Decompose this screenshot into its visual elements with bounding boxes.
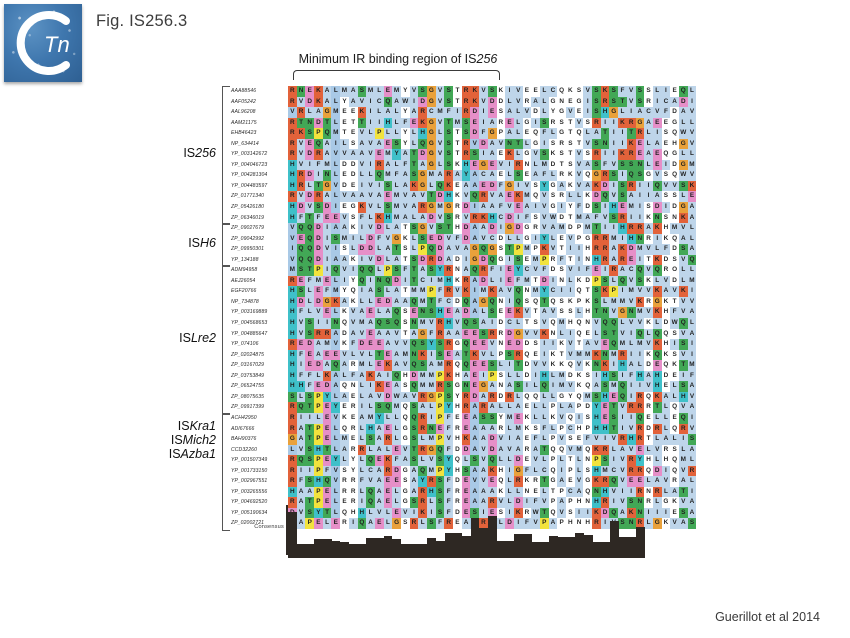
residue-cell: L [644, 329, 653, 340]
residue-cell: I [479, 118, 488, 129]
residue-cell: I [505, 160, 514, 171]
residue-cell: N [601, 307, 610, 318]
residue-cell: H [288, 329, 297, 340]
residue-cell: C [418, 276, 427, 287]
residue-cell: K [323, 371, 332, 382]
residue-cell: E [670, 86, 679, 97]
residue-cell: R [514, 160, 523, 171]
residue-cell: A [479, 318, 488, 329]
residue-cell: M [410, 286, 419, 297]
residue-cell: Q [575, 318, 584, 329]
residue-cell: A [410, 487, 419, 498]
residue-cell: L [392, 160, 401, 171]
residue-cell: F [488, 265, 497, 276]
residue-cell: K [453, 160, 462, 171]
residue-cell: R [444, 170, 453, 181]
residue-cell: M [436, 107, 445, 118]
residue-cell: I [688, 487, 697, 498]
residue-cell: L [653, 413, 662, 424]
residue-cell: K [592, 181, 601, 192]
residue-cell: R [601, 97, 610, 108]
residue-cell: A [331, 223, 340, 234]
residue-cell: G [444, 202, 453, 213]
residue-cell: M [479, 286, 488, 297]
residue-cell: D [375, 255, 384, 266]
residue-cell: K [497, 86, 506, 97]
residue-cell: H [636, 371, 645, 382]
residue-cell: Q [618, 392, 627, 403]
accession-label: YP_001507349 [231, 455, 287, 466]
residue-cell: F [531, 434, 540, 445]
residue-cell: D [314, 234, 323, 245]
residue-cell: L [505, 371, 514, 382]
residue-cell: V [592, 318, 601, 329]
alignment-row: HDLDGKAKLLEDAAQMTFCDQAGQNIQSQTQSKPKSLMMV… [288, 297, 696, 308]
residue-cell: S [358, 86, 367, 97]
accession-label: ZP_09027679 [231, 223, 287, 234]
residue-cell: M [557, 381, 566, 392]
accession-label: YP_003169889 [231, 307, 287, 318]
residue-cell: K [340, 339, 349, 350]
residue-cell: V [653, 170, 662, 181]
residue-cell: G [679, 160, 688, 171]
residue-cell: R [288, 191, 297, 202]
residue-cell: I [549, 381, 558, 392]
residue-cell: E [662, 118, 671, 129]
residue-cell: Q [349, 286, 358, 297]
residue-cell: Y [549, 107, 558, 118]
residue-cell: V [575, 118, 584, 129]
residue-cell: A [462, 265, 471, 276]
residue-cell: L [523, 139, 532, 150]
residue-cell: F [297, 371, 306, 382]
residue-cell: C [497, 213, 506, 224]
residue-cell: D [566, 223, 575, 234]
residue-cell: R [349, 497, 358, 508]
residue-cell: S [601, 329, 610, 340]
residue-cell: A [662, 286, 671, 297]
residue-cell: D [497, 318, 506, 329]
residue-cell: G [427, 118, 436, 129]
group-label-name: 256 [195, 146, 216, 160]
residue-cell: Y [323, 392, 332, 403]
residue-cell: Q [670, 424, 679, 435]
residue-cell: O [670, 265, 679, 276]
residue-cell: S [410, 434, 419, 445]
consensus-bar [332, 541, 341, 558]
residue-cell: E [531, 350, 540, 361]
residue-cell: L [540, 86, 549, 97]
residue-cell: T [410, 265, 419, 276]
residue-cell: H [592, 424, 601, 435]
residue-cell: V [297, 191, 306, 202]
residue-cell: F [297, 307, 306, 318]
residue-cell: D [670, 107, 679, 118]
residue-cell: P [497, 350, 506, 361]
residue-cell: L [305, 307, 314, 318]
residue-cell: G [618, 307, 627, 318]
residue-cell: K [349, 223, 358, 234]
residue-cell: G [427, 149, 436, 160]
residue-cell: K [662, 297, 671, 308]
residue-cell: V [392, 339, 401, 350]
residue-cell: V [314, 307, 323, 318]
residue-cell: Q [618, 276, 627, 287]
residue-cell: N [557, 97, 566, 108]
residue-cell: H [436, 307, 445, 318]
residue-cell: L [331, 434, 340, 445]
residue-cell: S [566, 160, 575, 171]
residue-cell: D [662, 255, 671, 266]
residue-cell: R [601, 255, 610, 266]
residue-cell: V [662, 276, 671, 287]
residue-cell: R [636, 466, 645, 477]
residue-cell: V [575, 476, 584, 487]
residue-cell: L [436, 160, 445, 171]
residue-cell: E [366, 307, 375, 318]
residue-cell: E [662, 139, 671, 150]
residue-cell: S [497, 107, 506, 118]
consensus-bar [375, 538, 384, 558]
residue-cell: D [314, 118, 323, 129]
residue-cell: N [583, 455, 592, 466]
residue-cell: E [349, 392, 358, 403]
residue-cell: D [375, 223, 384, 234]
residue-cell: Q [297, 223, 306, 234]
residue-cell: A [557, 497, 566, 508]
residue-cell: G [392, 234, 401, 245]
residue-cell: I [375, 181, 384, 192]
consensus-bar [384, 536, 393, 558]
residue-cell: A [392, 360, 401, 371]
residue-cell: V [488, 191, 497, 202]
residue-cell: A [331, 381, 340, 392]
residue-cell: G [549, 476, 558, 487]
residue-cell: T [305, 265, 314, 276]
residue-cell: G [575, 97, 584, 108]
residue-cell: T [453, 128, 462, 139]
residue-cell: S [549, 191, 558, 202]
residue-cell: Q [305, 244, 314, 255]
residue-cell: V [531, 265, 540, 276]
residue-cell: H [601, 371, 610, 382]
residue-cell: I [470, 286, 479, 297]
residue-cell: S [497, 371, 506, 382]
residue-cell: L [488, 276, 497, 287]
residue-cell: A [323, 360, 332, 371]
residue-cell: I [305, 160, 314, 171]
residue-cell: E [392, 445, 401, 456]
residue-cell: M [557, 318, 566, 329]
residue-cell: T [583, 286, 592, 297]
residue-cell: S [436, 487, 445, 498]
residue-cell: D [314, 223, 323, 234]
residue-cell: R [462, 97, 471, 108]
residue-cell: D [340, 181, 349, 192]
residue-cell: V [523, 107, 532, 118]
residue-cell: H [384, 118, 393, 129]
residue-cell: Q [670, 455, 679, 466]
residue-cell: E [523, 170, 532, 181]
residue-cell: E [479, 181, 488, 192]
residue-cell: M [340, 86, 349, 97]
residue-cell: L [358, 487, 367, 498]
residue-cell: E [670, 371, 679, 382]
residue-cell: V [297, 149, 306, 160]
residue-cell: P [549, 434, 558, 445]
residue-cell: R [288, 402, 297, 413]
residue-cell: V [662, 476, 671, 487]
residue-cell: M [436, 276, 445, 287]
residue-cell: G [453, 339, 462, 350]
residue-cell: Q [531, 297, 540, 308]
residue-cell: K [366, 371, 375, 382]
residue-cell: A [366, 286, 375, 297]
residue-cell: K [523, 424, 532, 435]
residue-cell: A [479, 223, 488, 234]
residue-cell: V [418, 191, 427, 202]
residue-cell: I [575, 255, 584, 266]
residue-cell: A [331, 255, 340, 266]
residue-cell: K [653, 255, 662, 266]
residue-cell: K [488, 286, 497, 297]
residue-cell: A [392, 223, 401, 234]
residue-cell: M [436, 360, 445, 371]
residue-cell: S [479, 329, 488, 340]
residue-cell: D [523, 339, 532, 350]
panel-title-italic: 256 [477, 52, 498, 66]
residue-cell: Q [523, 350, 532, 361]
residue-cell: T [549, 487, 558, 498]
residue-cell: S [410, 255, 419, 266]
residue-cell: H [288, 487, 297, 498]
residue-cell: I [366, 118, 375, 129]
residue-cell: R [462, 392, 471, 403]
residue-cell: L [688, 149, 697, 160]
residue-cell: T [401, 223, 410, 234]
residue-cell: S [444, 97, 453, 108]
residue-cell: E [323, 276, 332, 287]
residue-cell: L [514, 234, 523, 245]
residue-cell: L [540, 107, 549, 118]
residue-cell: S [410, 455, 419, 466]
residue-cell: I [331, 139, 340, 150]
residue-cell: R [418, 424, 427, 435]
residue-cell: I [340, 276, 349, 287]
residue-cell: D [679, 97, 688, 108]
residue-cell: A [531, 97, 540, 108]
residue-cell: Q [653, 350, 662, 361]
residue-cell: Q [488, 297, 497, 308]
residue-cell: F [358, 213, 367, 224]
residue-cell: S [514, 170, 523, 181]
residue-cell: H [288, 318, 297, 329]
residue-cell: V [297, 445, 306, 456]
residue-cell: K [670, 360, 679, 371]
residue-cell: A [297, 424, 306, 435]
residue-cell: F [305, 381, 314, 392]
residue-cell: R [470, 213, 479, 224]
residue-cell: A [401, 392, 410, 403]
residue-cell: K [679, 213, 688, 224]
residue-cell: A [679, 476, 688, 487]
residue-cell: K [375, 381, 384, 392]
accession-label: ZP_09917399 [231, 402, 287, 413]
residue-cell: P [436, 413, 445, 424]
residue-cell: L [505, 455, 514, 466]
residue-cell: K [662, 234, 671, 245]
residue-cell: G [514, 466, 523, 477]
residue-cell: V [505, 286, 514, 297]
residue-cell: I [627, 487, 636, 498]
residue-cell: T [453, 139, 462, 150]
residue-cell: F [557, 255, 566, 266]
residue-cell: A [497, 191, 506, 202]
accession-label: YP_004281304 [231, 170, 287, 181]
sequence-alignment: RNEKALMASMLEMYVSGVSTRKVSKIVEELCQKSVSKSFV… [288, 86, 696, 529]
group-label: ISKra1 [178, 420, 216, 432]
residue-cell: F [305, 276, 314, 287]
residue-cell: E [462, 424, 471, 435]
residue-cell: R [453, 424, 462, 435]
residue-cell: V [497, 497, 506, 508]
residue-cell: Q [410, 360, 419, 371]
residue-cell: K [670, 497, 679, 508]
residue-cell: N [592, 360, 601, 371]
residue-cell: A [470, 402, 479, 413]
residue-cell: T [540, 476, 549, 487]
residue-cell: V [644, 244, 653, 255]
residue-cell: S [662, 128, 671, 139]
residue-cell: E [470, 160, 479, 171]
residue-cell: R [627, 181, 636, 192]
residue-cell: V [366, 149, 375, 160]
residue-cell: Q [479, 244, 488, 255]
residue-cell: I [627, 381, 636, 392]
residue-cell: V [566, 339, 575, 350]
residue-cell: I [331, 244, 340, 255]
residue-cell: A [305, 487, 314, 498]
residue-cell: S [444, 392, 453, 403]
residue-cell: A [549, 223, 558, 234]
residue-cell: A [358, 413, 367, 424]
residue-cell: Q [636, 413, 645, 424]
residue-cell: L [366, 170, 375, 181]
residue-cell: A [470, 181, 479, 192]
residue-cell: I [358, 181, 367, 192]
residue-cell: T [592, 223, 601, 234]
residue-cell: A [392, 255, 401, 266]
consensus-bar [514, 534, 523, 558]
residue-cell: D [592, 191, 601, 202]
residue-cell: Q [384, 97, 393, 108]
residue-cell: S [592, 107, 601, 118]
residue-cell: G [323, 297, 332, 308]
group-label-prefix: IS [171, 433, 183, 447]
alignment-row: VRLAGMEEKILALYARCMFIRDIESALVDLYGVEISHGLI… [288, 107, 696, 118]
residue-cell: M [384, 170, 393, 181]
residue-cell: K [497, 487, 506, 498]
residue-cell: L [505, 487, 514, 498]
residue-cell: R [444, 360, 453, 371]
residue-cell: Q [653, 181, 662, 192]
residue-cell: V [627, 297, 636, 308]
residue-cell: R [288, 118, 297, 129]
residue-cell: L [514, 128, 523, 139]
residue-cell: G [323, 107, 332, 118]
residue-cell: A [470, 297, 479, 308]
residue-cell: V [366, 255, 375, 266]
residue-cell: D [323, 202, 332, 213]
residue-cell: V [436, 213, 445, 224]
residue-cell: N [331, 318, 340, 329]
residue-cell: V [436, 149, 445, 160]
residue-cell: S [583, 118, 592, 129]
residue-cell: G [401, 497, 410, 508]
residue-cell: H [288, 371, 297, 382]
residue-cell: M [670, 223, 679, 234]
residue-cell: R [627, 118, 636, 129]
residue-cell: S [583, 466, 592, 477]
accession-label: AAM21175 [231, 118, 287, 129]
residue-cell: L [514, 371, 523, 382]
residue-cell: E [323, 424, 332, 435]
residue-cell: L [505, 476, 514, 487]
residue-cell: T [375, 350, 384, 361]
residue-cell: V [627, 86, 636, 97]
residue-cell: E [297, 339, 306, 350]
residue-cell: L [505, 424, 514, 435]
residue-cell: E [427, 234, 436, 245]
residue-cell: L [375, 265, 384, 276]
residue-cell: R [688, 466, 697, 477]
residue-cell: G [523, 234, 532, 245]
residue-cell: E [609, 392, 618, 403]
residue-cell: S [305, 392, 314, 403]
residue-cell: D [305, 97, 314, 108]
residue-cell: Q [583, 381, 592, 392]
residue-cell: K [644, 276, 653, 287]
residue-cell: H [662, 307, 671, 318]
residue-cell: M [557, 371, 566, 382]
residue-cell: Q [401, 402, 410, 413]
residue-cell: F [297, 350, 306, 361]
residue-cell: G [488, 128, 497, 139]
residue-cell: G [470, 255, 479, 266]
residue-cell: R [462, 276, 471, 287]
residue-cell: M [523, 276, 532, 287]
residue-cell: V [540, 497, 549, 508]
residue-cell: S [679, 244, 688, 255]
residue-cell: E [488, 476, 497, 487]
residue-cell: S [444, 381, 453, 392]
residue-cell: W [679, 170, 688, 181]
residue-cell: G [288, 434, 297, 445]
residue-cell: R [644, 497, 653, 508]
residue-cell: A [340, 360, 349, 371]
residue-cell: F [523, 466, 532, 477]
residue-cell: A [470, 487, 479, 498]
residue-cell: D [349, 160, 358, 171]
residue-cell: K [662, 518, 671, 529]
residue-cell: S [418, 339, 427, 350]
residue-cell: S [670, 329, 679, 340]
residue-cell: N [297, 86, 306, 97]
alignment-row: VQQDIAAKIVDLATSDRDADIGDQGISEMPRFTINHRARE… [288, 255, 696, 266]
residue-cell: E [375, 360, 384, 371]
accession-label: YP_004568653 [231, 318, 287, 329]
residue-cell: T [410, 276, 419, 287]
